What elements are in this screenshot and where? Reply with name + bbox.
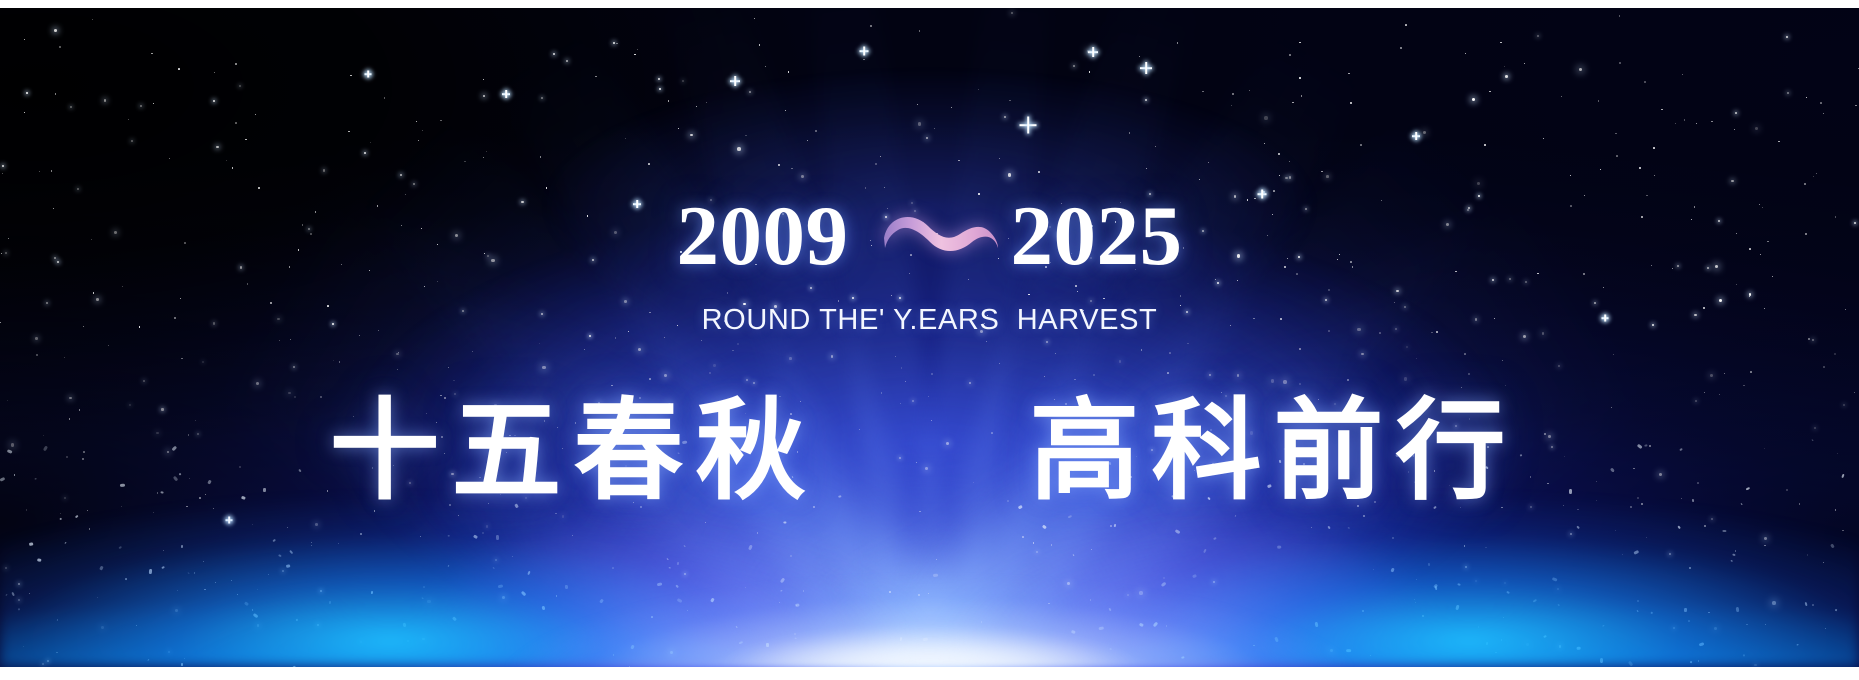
banner-subtitle: ROUND THE' Y.EARS HARVEST: [0, 304, 1859, 337]
banner-artwork-canvas: 2009: [0, 8, 1859, 667]
headline-row: 十五春秋 高科前行: [0, 394, 1859, 510]
wave-tilde-icon: [875, 199, 1007, 269]
banner-text-stack: 2009: [0, 8, 1859, 667]
start-year: 2009: [677, 194, 849, 279]
bottom-white-strip: [0, 667, 1859, 680]
top-white-strip: [0, 0, 1859, 8]
anniversary-banner: 2009: [0, 0, 1859, 680]
year-range: 2009: [0, 194, 1859, 279]
headline-right: 高科前行: [1030, 394, 1530, 510]
end-year: 2025: [1011, 194, 1183, 279]
headline-left: 十五春秋: [330, 394, 830, 510]
